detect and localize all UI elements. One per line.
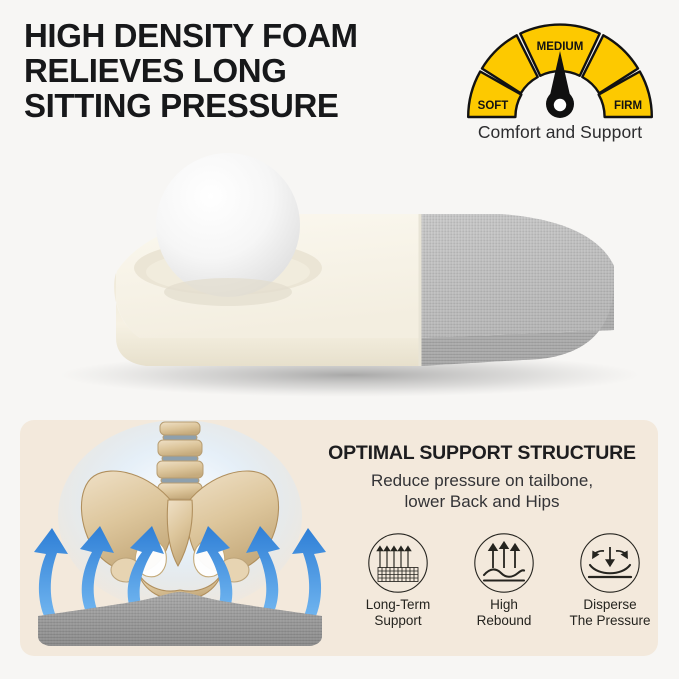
feature-label-line-2: Support — [350, 613, 446, 629]
feature-label-line-2: The Pressure — [562, 613, 658, 629]
sphere-contact-shadow — [164, 278, 292, 306]
rebound-arrows-wave-icon — [473, 532, 535, 594]
optimal-support-panel: OPTIMAL SUPPORT STRUCTURE Reduce pressur… — [20, 420, 658, 656]
feature-long-term-support: Long-Term Support — [350, 532, 446, 629]
product-infographic: HIGH DENSITY FOAM RELIEVES LONG SITTING … — [0, 0, 679, 679]
panel-subtitle-line-2: lower Back and Hips — [306, 491, 658, 512]
gauge-label-firm: FIRM — [614, 100, 642, 112]
pelvis-support-illustration — [20, 420, 340, 656]
panel-text-block: OPTIMAL SUPPORT STRUCTURE Reduce pressur… — [306, 442, 658, 512]
feature-list: Long-Term Support — [350, 532, 658, 629]
disperse-pressure-arrows-icon — [579, 532, 641, 594]
page-title: HIGH DENSITY FOAM RELIEVES LONG SITTING … — [24, 18, 454, 123]
feature-high-rebound: High Rebound — [456, 532, 552, 629]
firmness-gauge: SOFT MEDIUM FIRM Comfort and Support — [448, 20, 672, 143]
hero-product-image — [0, 140, 679, 410]
feature-label-line-1: High — [456, 597, 552, 613]
headline-line-3: SITTING PRESSURE — [24, 88, 454, 123]
pressure-test-sphere — [156, 153, 300, 297]
feature-label-line-2: Rebound — [456, 613, 552, 629]
spine-illustration — [157, 422, 203, 499]
feature-label-high-rebound: High Rebound — [456, 597, 552, 629]
feature-label-line-1: Disperse — [562, 597, 658, 613]
panel-subtitle: Reduce pressure on tailbone, lower Back … — [306, 470, 658, 512]
feature-label-long-term-support: Long-Term Support — [350, 597, 446, 629]
gray-cushion — [38, 592, 322, 646]
feature-label-disperse-pressure: Disperse The Pressure — [562, 597, 658, 629]
headline-line-2: RELIEVES LONG — [24, 53, 454, 88]
feature-disperse-pressure: Disperse The Pressure — [562, 532, 658, 629]
panel-title: OPTIMAL SUPPORT STRUCTURE — [306, 442, 658, 465]
gauge-icon: SOFT MEDIUM FIRM — [448, 20, 672, 120]
feature-label-line-1: Long-Term — [350, 597, 446, 613]
headline-line-1: HIGH DENSITY FOAM — [24, 18, 454, 53]
panel-subtitle-line-1: Reduce pressure on tailbone, — [306, 470, 658, 491]
fabric-top-weave — [420, 214, 614, 338]
gauge-label-soft: SOFT — [478, 100, 509, 112]
grid-support-arrows-icon — [367, 532, 429, 594]
